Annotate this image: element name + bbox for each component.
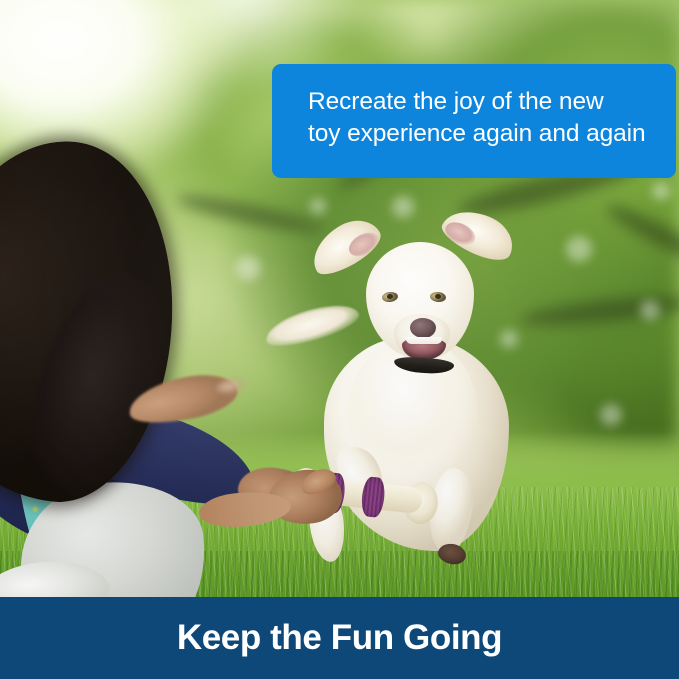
bokeh-highlight xyxy=(640,300,660,320)
feature-callout: Recreate the joy of the new toy experien… xyxy=(272,64,676,178)
dog-nose xyxy=(410,318,436,338)
dog-inner-ear xyxy=(345,228,383,261)
dog-inner-ear xyxy=(441,218,479,250)
dog-paw xyxy=(436,542,467,567)
bokeh-highlight xyxy=(566,236,592,262)
bokeh-highlight xyxy=(652,182,670,200)
feature-callout-text: Recreate the joy of the new toy experien… xyxy=(308,86,658,150)
bottom-banner: Keep the Fun Going xyxy=(0,597,679,679)
banner-headline: Keep the Fun Going xyxy=(177,618,502,658)
person xyxy=(0,150,330,597)
dog-teeth xyxy=(406,337,442,344)
product-lifestyle-creative: Recreate the joy of the new toy experien… xyxy=(0,0,679,679)
bokeh-highlight xyxy=(392,196,414,218)
bokeh-highlight xyxy=(600,404,622,426)
